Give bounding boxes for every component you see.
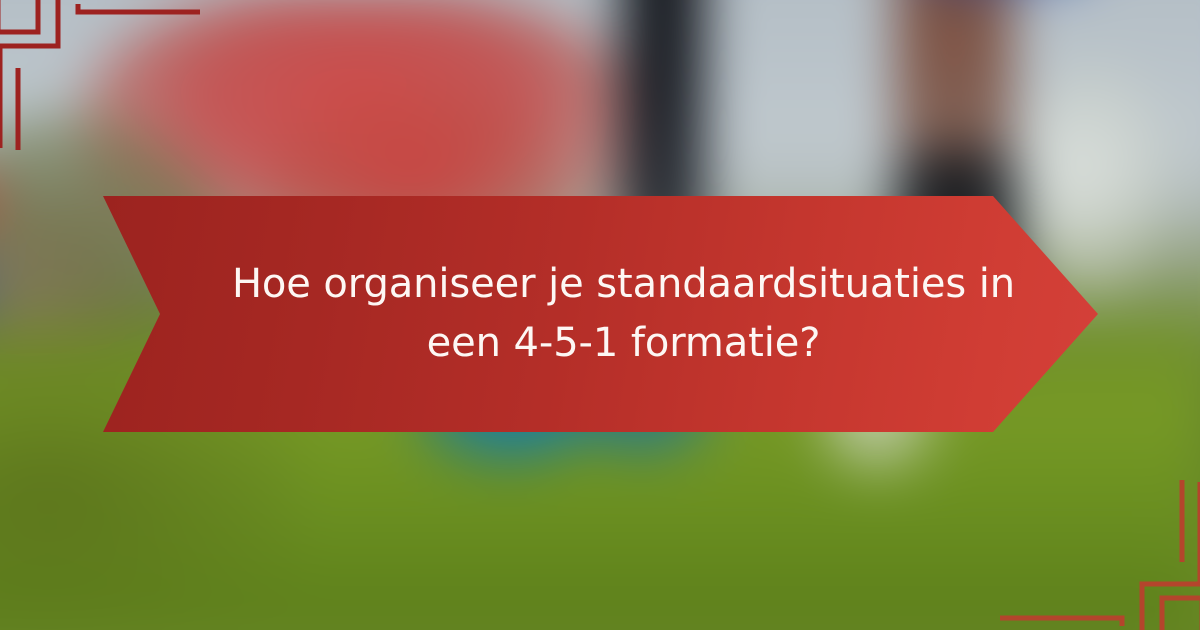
corner-ornament-bottom-right: [998, 478, 1200, 630]
corner-ornament-top-left: [0, 0, 202, 152]
social-card: Hoe organiseer je standaardsituaties in …: [0, 0, 1200, 630]
headline-banner: Hoe organiseer je standaardsituaties in …: [103, 196, 1098, 432]
headline-text: Hoe organiseer je standaardsituaties in …: [219, 255, 1029, 373]
